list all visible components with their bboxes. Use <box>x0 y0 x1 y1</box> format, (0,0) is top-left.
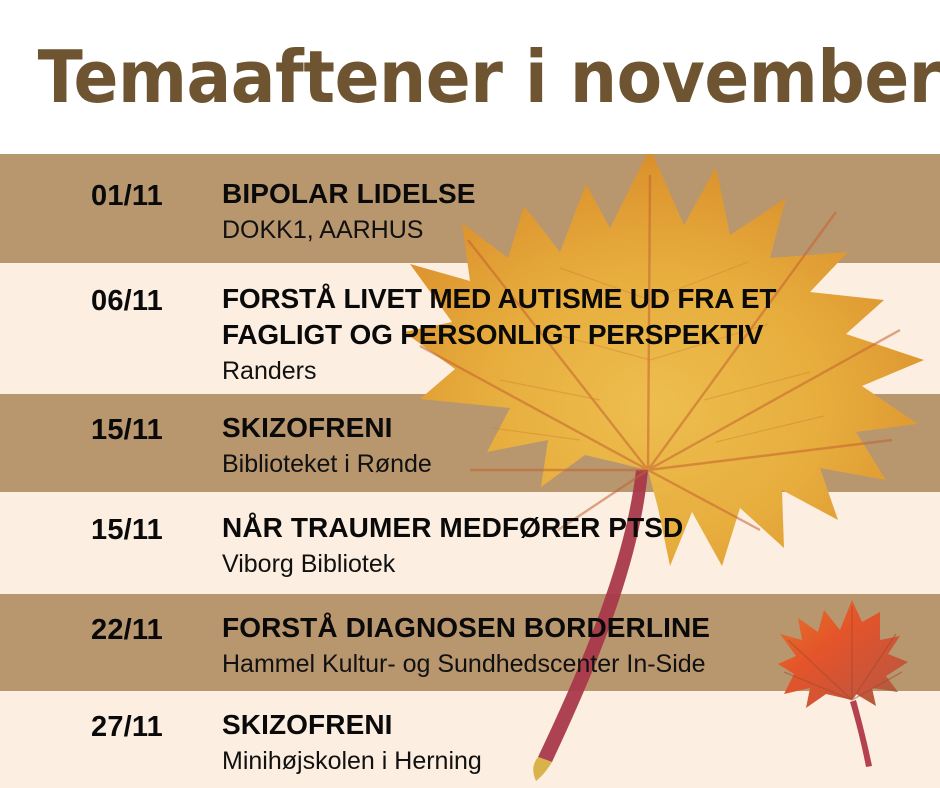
event-date: 27/11 <box>52 711 202 744</box>
event-date: 22/11 <box>52 614 202 647</box>
event-body: NÅR TRAUMER MEDFØRER PTSD Viborg Bibliot… <box>222 510 922 580</box>
list-item[interactable]: 15/11 SKIZOFRENI Biblioteket i Rønde <box>0 394 940 492</box>
event-body: SKIZOFRENI Biblioteket i Rønde <box>222 410 922 480</box>
event-venue: Randers <box>222 355 922 387</box>
event-body: FORSTÅ DIAGNOSEN BORDERLINE Hammel Kultu… <box>222 610 922 680</box>
poster-canvas: Temaaftener i november 01/11 BIPOLAR LID… <box>0 0 940 788</box>
event-date: 15/11 <box>52 414 202 447</box>
list-item[interactable]: 06/11 FORSTÅ LIVET MED AUTISME UD FRA ET… <box>0 263 940 394</box>
event-venue: Hammel Kultur- og Sundhedscenter In-Side <box>222 648 922 680</box>
event-body: BIPOLAR LIDELSE DOKK1, AARHUS <box>222 176 922 246</box>
list-item[interactable]: 15/11 NÅR TRAUMER MEDFØRER PTSD Viborg B… <box>0 492 940 594</box>
event-date: 06/11 <box>52 285 202 318</box>
page-title: Temaaftener i november <box>38 0 903 154</box>
list-item[interactable]: 22/11 FORSTÅ DIAGNOSEN BORDERLINE Hammel… <box>0 594 940 691</box>
event-venue: Viborg Bibliotek <box>222 548 922 580</box>
event-title: SKIZOFRENI <box>222 410 922 446</box>
event-title: BIPOLAR LIDELSE <box>222 176 922 212</box>
event-venue: DOKK1, AARHUS <box>222 214 922 246</box>
event-venue: Minihøjskolen i Herning <box>222 745 922 777</box>
event-date: 15/11 <box>52 514 202 547</box>
poster-header: Temaaftener i november <box>0 0 940 154</box>
list-item[interactable]: 27/11 SKIZOFRENI Minihøjskolen i Herning <box>0 691 940 788</box>
event-title: SKIZOFRENI <box>222 707 922 743</box>
event-date: 01/11 <box>52 180 202 213</box>
event-venue: Biblioteket i Rønde <box>222 448 922 480</box>
event-title: NÅR TRAUMER MEDFØRER PTSD <box>222 510 922 546</box>
list-item[interactable]: 01/11 BIPOLAR LIDELSE DOKK1, AARHUS <box>0 154 940 263</box>
event-title: FORSTÅ LIVET MED AUTISME UD FRA ET FAGLI… <box>222 281 922 353</box>
event-title: FORSTÅ DIAGNOSEN BORDERLINE <box>222 610 922 646</box>
event-body: SKIZOFRENI Minihøjskolen i Herning <box>222 707 922 777</box>
event-body: FORSTÅ LIVET MED AUTISME UD FRA ET FAGLI… <box>222 281 922 387</box>
